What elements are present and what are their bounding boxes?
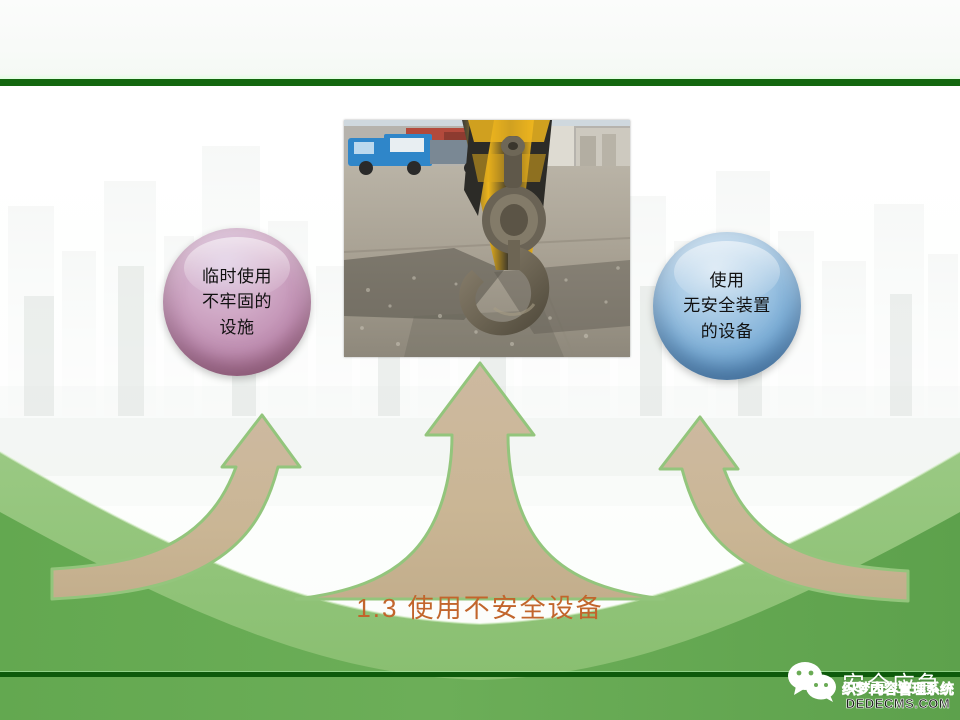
crane-hook-photo [344, 120, 630, 357]
watermark-en: DEDECMS.COM [836, 697, 960, 710]
sphere-equipment-without-safety-devices[interactable]: 使用 无安全装置 的设备 [653, 232, 801, 380]
top-green-rule [0, 79, 960, 86]
section-title: 1.3 使用不安全设备 [0, 588, 960, 625]
watermark-cn: 织梦内容管理系统 [836, 682, 960, 696]
wechat-icon [786, 659, 840, 705]
watermark: 织梦内容管理系统 DEDECMS.COM [836, 682, 960, 710]
sphere-right-label: 使用 无安全装置 的设备 [683, 268, 771, 345]
sphere-left-label: 临时使用 不牢固的 设施 [202, 264, 272, 341]
top-white-band [0, 0, 960, 80]
slide-canvas: 临时使用 不牢固的 设施 使用 无安全装置 的设备 1.3 使用不安全设备 [0, 0, 960, 720]
sphere-temporary-unstable-facilities[interactable]: 临时使用 不牢固的 设施 [163, 228, 311, 376]
